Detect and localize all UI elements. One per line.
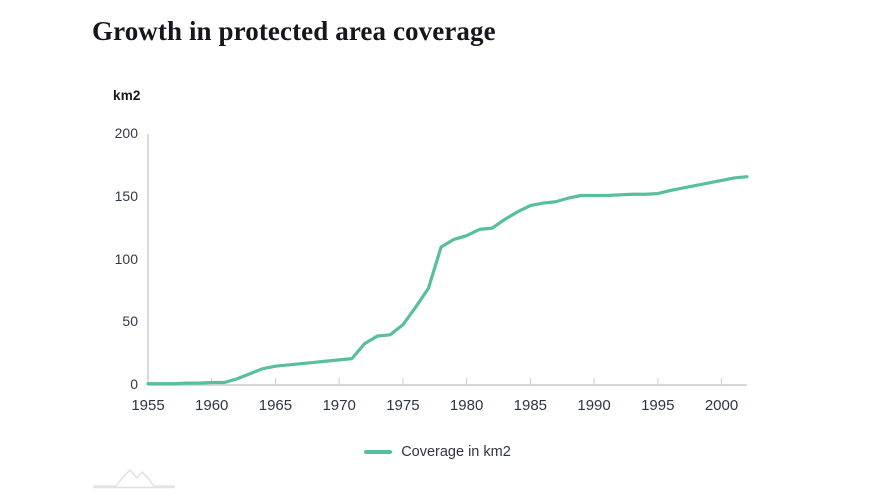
x-axis-tick-label: 1990 [569, 397, 619, 414]
x-axis-tick-label: 1995 [633, 397, 683, 414]
x-axis-tick-label: 1970 [314, 397, 364, 414]
line-chart-plot [0, 0, 875, 497]
x-axis-tick-label: 1975 [378, 397, 428, 414]
y-axis-tick-label: 150 [102, 188, 138, 204]
axis-lines [148, 134, 747, 385]
series-line[interactable] [148, 177, 747, 384]
x-axis-tick-label: 1985 [505, 397, 555, 414]
x-axis-tick-label: 1955 [123, 397, 173, 414]
legend-item-label: Coverage in km2 [401, 444, 511, 460]
chart-card: Growth in protected area coverage km2 05… [0, 0, 875, 497]
mountains-logo [90, 462, 182, 492]
y-axis-tick-label: 50 [102, 313, 138, 329]
y-axis-tick-label: 0 [102, 376, 138, 392]
y-axis-tick-label: 200 [102, 125, 138, 141]
chart-legend: Coverage in km2 [0, 444, 875, 460]
legend-item-coverage[interactable]: Coverage in km2 [364, 444, 511, 460]
y-axis-tick-label: 100 [102, 251, 138, 267]
x-axis-tick-label: 2000 [697, 397, 747, 414]
x-axis-tick-label: 1965 [250, 397, 300, 414]
x-axis-tick-label: 1980 [442, 397, 492, 414]
series-lines [148, 177, 747, 384]
x-axis-tick-label: 1960 [187, 397, 237, 414]
legend-color-swatch [364, 450, 392, 454]
